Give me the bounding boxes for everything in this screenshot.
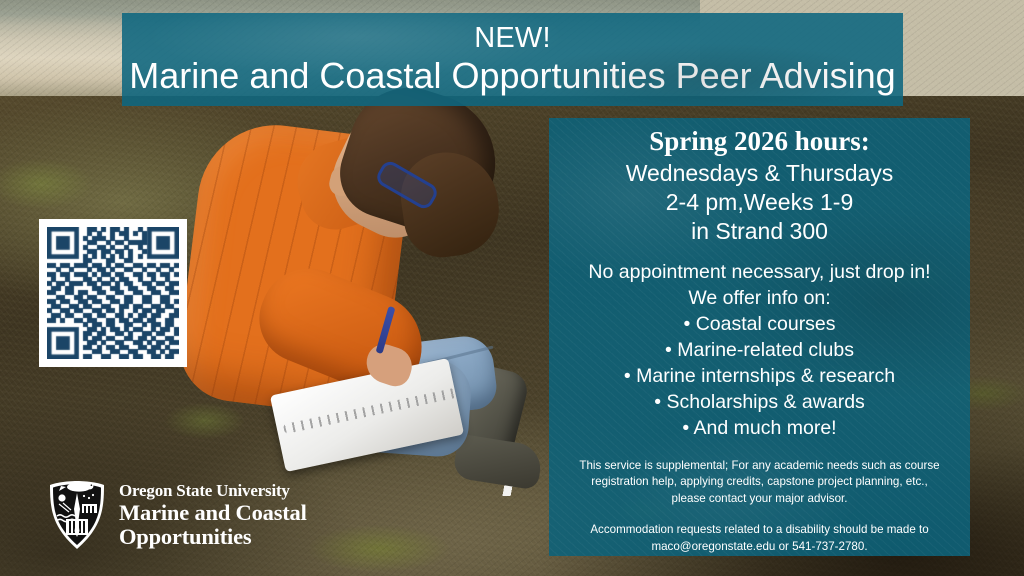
list-item: • Coastal courses bbox=[563, 312, 956, 338]
osu-logo: Oregon State University Marine and Coast… bbox=[46, 479, 307, 551]
disclaimer-text: This service is supplemental; For any ac… bbox=[563, 458, 956, 507]
poster: NEW! Marine and Coastal Opportunities Pe… bbox=[0, 0, 1024, 576]
list-item: • Scholarships & awards bbox=[563, 390, 956, 416]
offer-intro-line: We offer info on: bbox=[563, 286, 956, 312]
offerings-list: • Coastal courses • Marine-related clubs… bbox=[563, 312, 956, 442]
osu-beaver-shield-icon bbox=[46, 479, 108, 551]
student-figure bbox=[170, 110, 570, 510]
list-item: • And much more! bbox=[563, 416, 956, 442]
boot-sole bbox=[452, 434, 544, 491]
osu-logo-line-unit-1: Marine and Coastal bbox=[119, 501, 307, 524]
info-panel: Spring 2026 hours: Wednesdays & Thursday… bbox=[549, 118, 970, 556]
header-banner: NEW! Marine and Coastal Opportunities Pe… bbox=[122, 13, 903, 106]
hours-line-time: 2-4 pm,Weeks 1-9 bbox=[563, 188, 956, 217]
osu-logo-text: Oregon State University Marine and Coast… bbox=[119, 482, 307, 548]
qr-code-icon[interactable] bbox=[47, 227, 179, 359]
qr-code[interactable] bbox=[39, 219, 187, 367]
page-title: Marine and Coastal Opportunities Peer Ad… bbox=[129, 56, 895, 96]
photo-credit-text: Photo courtesy of MariAnna Hinojosa. bbox=[563, 555, 956, 556]
hours-heading: Spring 2026 hours: bbox=[563, 126, 956, 158]
osu-logo-line-unit-2: Opportunities bbox=[119, 525, 307, 548]
list-item: • Marine internships & research bbox=[563, 364, 956, 390]
osu-logo-line-university: Oregon State University bbox=[119, 482, 307, 500]
hours-line-days: Wednesdays & Thursdays bbox=[563, 159, 956, 188]
accommodation-text: Accommodation requests related to a disa… bbox=[563, 522, 956, 555]
new-label: NEW! bbox=[474, 23, 551, 53]
drop-in-line: No appointment necessary, just drop in! bbox=[563, 260, 956, 286]
hours-line-location: in Strand 300 bbox=[563, 217, 956, 246]
list-item: • Marine-related clubs bbox=[563, 338, 956, 364]
